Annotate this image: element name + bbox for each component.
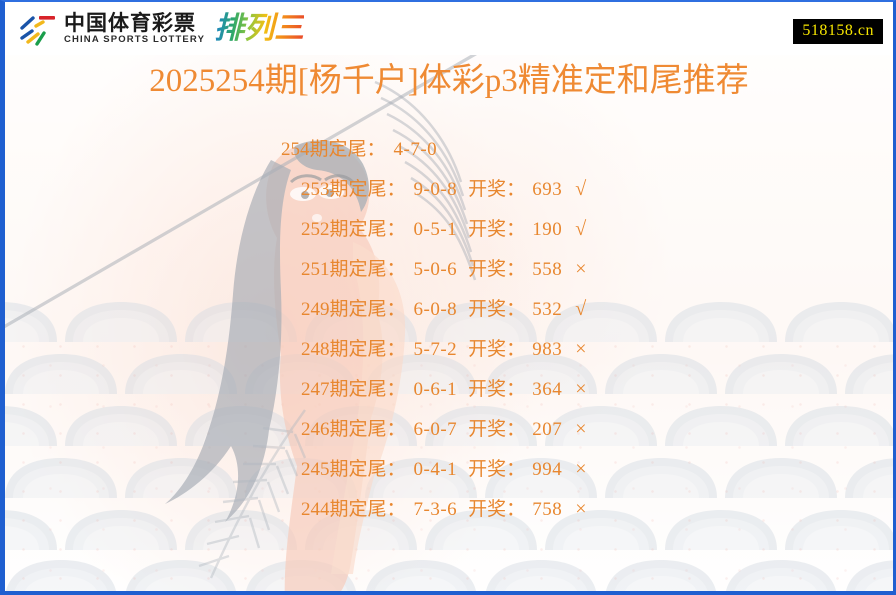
page-title: 2025254期[杨千户]体彩p3精准定和尾推荐 (5, 60, 893, 102)
row-draw-numbers: 532 (532, 299, 562, 321)
site-watermark: 518158.cn (793, 19, 883, 44)
row-tail-label: 期定尾： (330, 294, 406, 321)
prediction-row: 251 期定尾： 5-0-6 开奖： 558 × (5, 247, 893, 287)
brand-name-en: CHINA SPORTS LOTTERY (64, 34, 205, 46)
brand-lockup: 中国体育彩票 CHINA SPORTS LOTTERY 排列三 (19, 10, 304, 48)
prediction-row: 252 期定尾： 0-5-1 开奖： 190 √ (5, 207, 893, 247)
sports-lottery-athlete-icon (19, 11, 57, 47)
row-draw-label: 开奖： (468, 494, 525, 521)
row-tail-numbers: 6-0-8 (414, 299, 458, 321)
row-draw-label: 开奖： (468, 334, 525, 361)
row-draw-label: 开奖： (468, 214, 525, 241)
row-draw-numbers: 983 (532, 339, 562, 361)
row-tail-label: 期定尾： (330, 334, 406, 361)
prediction-row: 253 期定尾： 9-0-8 开奖： 693 √ (5, 167, 893, 207)
row-issue: 253 (301, 179, 330, 201)
row-draw-label: 开奖： (468, 254, 525, 281)
prediction-row: 246 期定尾： 6-0-7 开奖： 207 × (5, 407, 893, 447)
row-draw-label: 开奖： (468, 374, 525, 401)
row-tail-label: 期定尾： (330, 414, 406, 441)
prediction-row: 245 期定尾： 0-4-1 开奖： 994 × (5, 447, 893, 487)
row-draw-numbers: 758 (532, 499, 562, 521)
row-draw-numbers: 364 (532, 379, 562, 401)
row-issue: 254 (281, 139, 310, 161)
row-issue: 246 (301, 419, 330, 441)
row-result-mark: × (575, 258, 586, 281)
row-result-mark: √ (575, 298, 586, 321)
row-tail-numbers: 7-3-6 (414, 499, 458, 521)
game-name-pailiesan: 排列三 (214, 12, 304, 46)
row-tail-numbers: 4-7-0 (394, 139, 438, 161)
row-draw-label: 开奖： (468, 294, 525, 321)
row-draw-numbers: 558 (532, 259, 562, 281)
row-tail-label: 期定尾： (330, 494, 406, 521)
row-result-mark: × (575, 458, 586, 481)
prediction-row: 254 期定尾： 4-7-0 (5, 127, 893, 167)
row-issue: 251 (301, 259, 330, 281)
prediction-row-list: 254 期定尾： 4-7-0 253 期定尾： 9-0-8 开奖： 693 √ … (5, 127, 893, 527)
row-draw-label: 开奖： (468, 174, 525, 201)
row-result-mark: × (575, 498, 586, 521)
row-tail-numbers: 0-5-1 (414, 219, 458, 241)
brand-name-cn: 中国体育彩票 (64, 12, 205, 34)
row-result-mark: × (575, 338, 586, 361)
prediction-row: 247 期定尾： 0-6-1 开奖： 364 × (5, 367, 893, 407)
row-tail-numbers: 0-4-1 (414, 459, 458, 481)
row-result-mark: √ (575, 178, 586, 201)
prediction-row: 244 期定尾： 7-3-6 开奖： 758 × (5, 487, 893, 527)
row-tail-label: 期定尾： (310, 134, 386, 161)
row-tail-numbers: 0-6-1 (414, 379, 458, 401)
row-draw-numbers: 207 (532, 419, 562, 441)
row-tail-numbers: 5-7-2 (414, 339, 458, 361)
header-bar: 中国体育彩票 CHINA SPORTS LOTTERY 排列三 518158.c… (5, 2, 893, 55)
brand-text-block: 中国体育彩票 CHINA SPORTS LOTTERY (64, 11, 205, 47)
prediction-row: 249 期定尾： 6-0-8 开奖： 532 √ (5, 287, 893, 327)
row-tail-numbers: 6-0-7 (414, 419, 458, 441)
row-draw-numbers: 693 (532, 179, 562, 201)
row-issue: 249 (301, 299, 330, 321)
row-result-mark: × (575, 378, 586, 401)
row-result-mark: × (575, 418, 586, 441)
row-draw-label: 开奖： (468, 454, 525, 481)
lottery-prediction-image: 中国体育彩票 CHINA SPORTS LOTTERY 排列三 518158.c… (0, 0, 896, 595)
row-draw-label: 开奖： (468, 414, 525, 441)
row-tail-label: 期定尾： (330, 174, 406, 201)
row-result-mark: √ (575, 218, 586, 241)
row-tail-numbers: 9-0-8 (414, 179, 458, 201)
row-tail-label: 期定尾： (330, 374, 406, 401)
row-issue: 244 (301, 499, 330, 521)
row-issue: 248 (301, 339, 330, 361)
row-issue: 247 (301, 379, 330, 401)
row-tail-label: 期定尾： (330, 214, 406, 241)
row-issue: 245 (301, 459, 330, 481)
row-tail-label: 期定尾： (330, 454, 406, 481)
row-tail-numbers: 5-0-6 (414, 259, 458, 281)
row-tail-label: 期定尾： (330, 254, 406, 281)
row-draw-numbers: 994 (532, 459, 562, 481)
prediction-row: 248 期定尾： 5-7-2 开奖： 983 × (5, 327, 893, 367)
row-draw-numbers: 190 (532, 219, 562, 241)
row-issue: 252 (301, 219, 330, 241)
